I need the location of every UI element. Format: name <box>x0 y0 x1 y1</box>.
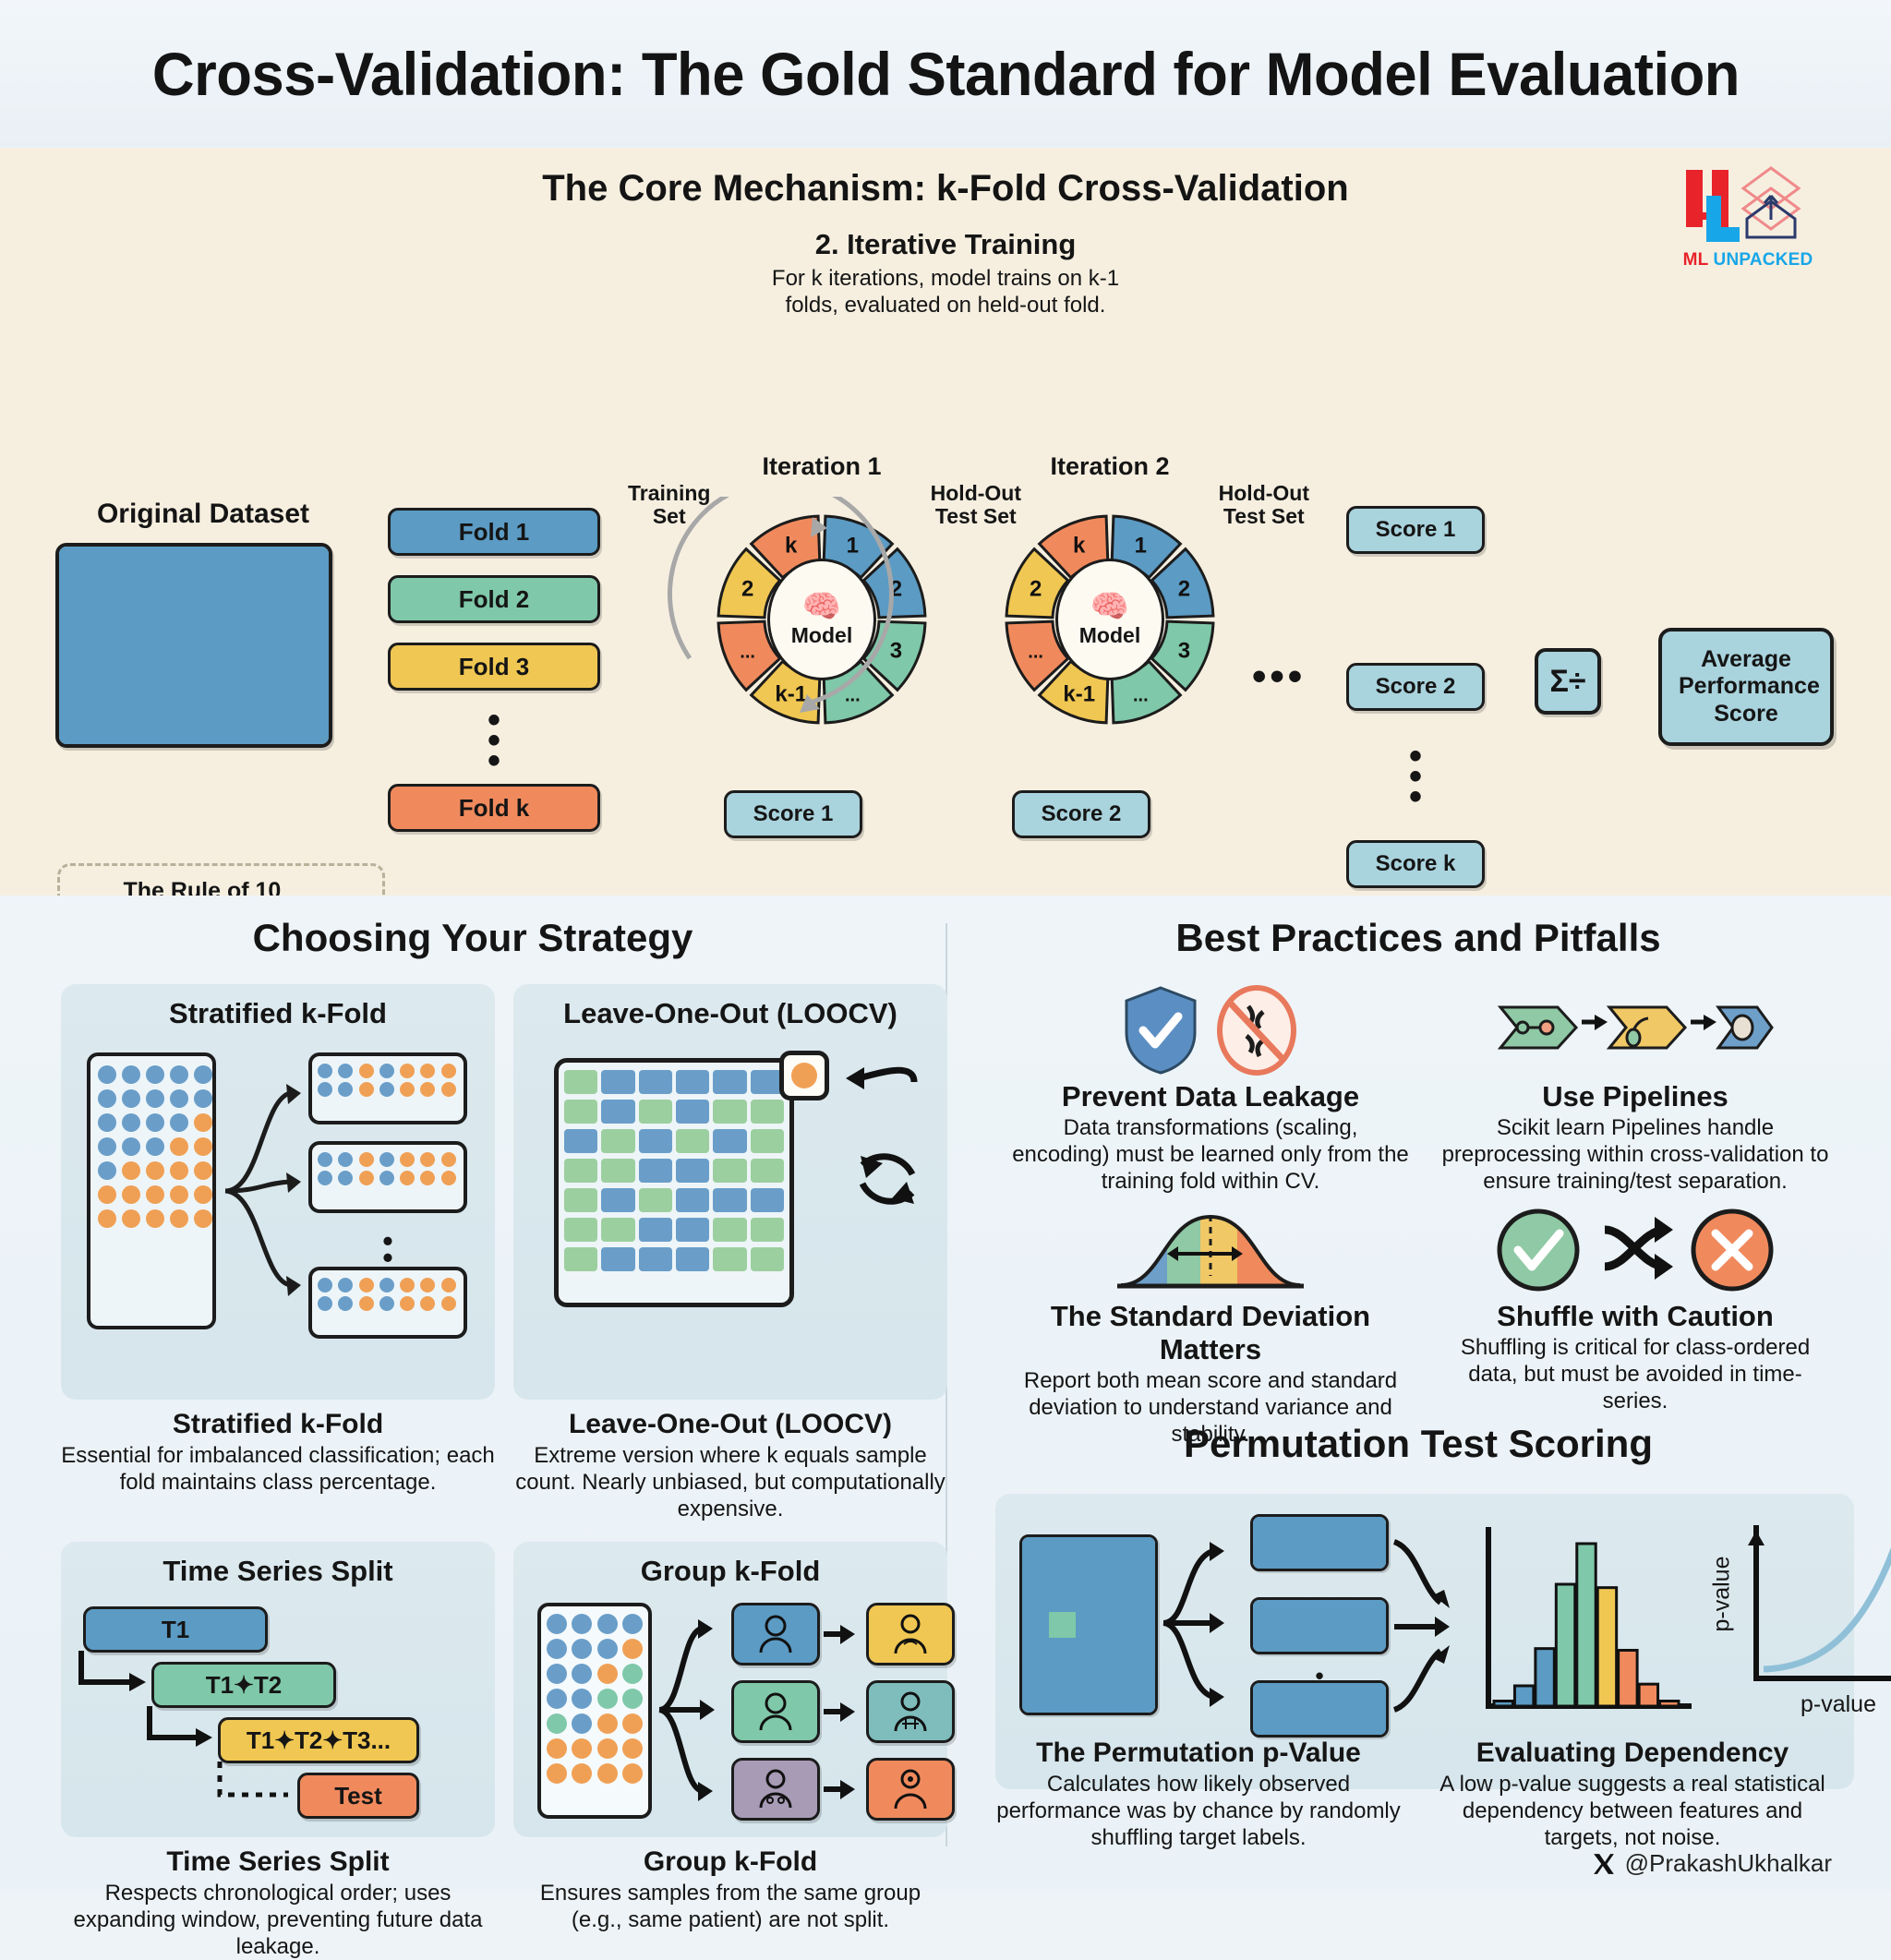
fold-item-3[interactable]: Fold 3 <box>388 643 600 691</box>
caption-time-series: Time Series Split Respects chronological… <box>61 1846 495 1960</box>
sum-divide-icon: Σ÷ <box>1535 648 1601 715</box>
bp-use-pipelines: Use Pipelines Scikit learn Pipelines han… <box>1437 980 1834 1195</box>
group-person-2 <box>731 1680 820 1743</box>
histogram-svg <box>1475 1521 1697 1725</box>
check-circle-icon <box>1494 1206 1583 1294</box>
bp-shuffle-with-caution: Shuffle with Caution Shuffling is critic… <box>1437 1200 1834 1414</box>
caption-body: Calculates how likely observed performan… <box>995 1771 1402 1851</box>
core-mechanism-section: The Core Mechanism: k-Fold Cross-Validat… <box>0 148 1891 896</box>
logo-text: ML UNPACKED <box>1674 250 1822 271</box>
patient-icon <box>891 1690 930 1733</box>
original-dataset-block: Original Dataset <box>55 499 351 748</box>
svg-text:...: ... <box>1028 642 1043 662</box>
fold-label: Fold k <box>459 794 530 823</box>
score-label: Score 1 <box>1376 517 1456 542</box>
fold-item-k[interactable]: Fold k <box>388 784 600 832</box>
card-stratified-k-fold: Stratified k-Fold <box>61 984 495 1400</box>
dependency-xlabel: p-value <box>1801 1691 1876 1718</box>
svg-text:k-1: k-1 <box>1063 681 1095 706</box>
ts-bar-t1[interactable]: T1 <box>83 1606 268 1653</box>
svg-text:...: ... <box>1133 685 1149 705</box>
ts-bar-label: T1✦T2✦T3... <box>247 1726 391 1755</box>
caption-title: Stratified k-Fold <box>61 1409 495 1440</box>
model-hub-1: 🧠 Model <box>767 559 876 680</box>
strategy-heading: Choosing Your Strategy <box>0 916 945 960</box>
group-patient-3 <box>866 1758 955 1821</box>
caption-loocv: Leave-One-Out (LOOCV) Extreme version wh… <box>513 1409 947 1522</box>
caption-body: Ensures samples from the same group (e.g… <box>513 1880 947 1933</box>
card-loocv: Leave-One-Out (LOOCV) <box>513 984 947 1400</box>
caption-body: Extreme version where k equals sample co… <box>513 1442 947 1522</box>
logo-unpacked: UNPACKED <box>1714 250 1813 270</box>
dependency-plot: p-value p-value <box>1716 1518 1891 1730</box>
svg-text:3: 3 <box>1178 638 1190 663</box>
x-logo-icon <box>1592 1852 1616 1876</box>
svg-text:k: k <box>785 534 798 559</box>
brain-icon: 🧠 <box>802 591 841 622</box>
svg-text:3: 3 <box>890 638 902 663</box>
permutation-shuffled-1 <box>1250 1514 1389 1571</box>
ts-bar-t1t2t3[interactable]: T1✦T2✦T3... <box>218 1717 419 1763</box>
dependency-ylabel: p-value <box>1709 1557 1736 1632</box>
iterations-ellipsis-icon: ••• <box>1252 665 1306 689</box>
iterative-training-sub-2: folds, evaluated on held-out fold. <box>0 292 1891 319</box>
ml-unpacked-mark <box>1679 164 1817 247</box>
page-title: Cross-Validation: The Gold Standard for … <box>151 39 1739 109</box>
lower-section: Choosing Your Strategy Stratified k-Fold <box>0 896 1891 1891</box>
fold-item-1[interactable]: Fold 1 <box>388 508 600 556</box>
model-label: Model <box>1079 623 1140 648</box>
model-hub-2: 🧠 Model <box>1055 559 1164 680</box>
model-label: Model <box>791 623 852 648</box>
loocv-held-out-sample <box>779 1051 829 1100</box>
hold-out-test-set-label-2: Hold-OutTest Set <box>1219 482 1309 529</box>
iteration-1-title: Iteration 1 <box>683 452 960 481</box>
card-time-series-split: Time Series Split T1 T1✦T2 T1✦T2✦T3... T… <box>61 1542 495 1837</box>
fold-list: Fold 1 Fold 2 Fold 3 ••• Fold k <box>388 508 600 851</box>
iteration-2-block: Iteration 2 Hold-OutTest Set 123...k-1..… <box>971 513 1248 726</box>
bp-title: Prevent Data Leakage <box>1012 1080 1409 1113</box>
sigma-symbol: Σ÷ <box>1549 664 1585 700</box>
caption-group-k-fold: Group k-Fold Ensures samples from the sa… <box>513 1846 947 1933</box>
stratified-source-grid <box>87 1052 216 1329</box>
shield-check-icon <box>1121 984 1200 1076</box>
aggregate-score-2[interactable]: Score 2 <box>1346 663 1485 711</box>
stratified-arrows-icon <box>218 1052 310 1329</box>
aggregate-score-ellipsis-icon: ••• <box>1346 746 1485 807</box>
no-leak-icon <box>1213 984 1300 1076</box>
score-label: Score 2 <box>1376 674 1456 699</box>
page-header: Cross-Validation: The Gold Standard for … <box>0 0 1891 148</box>
card-group-k-fold: Group k-Fold <box>513 1542 947 1837</box>
iterative-training-title: 2. Iterative Training <box>0 228 1891 261</box>
caption-stratified: Stratified k-Fold Essential for imbalanc… <box>61 1409 495 1496</box>
permutation-source-matrix <box>1019 1534 1158 1715</box>
svg-text:2: 2 <box>890 577 902 602</box>
original-dataset-title: Original Dataset <box>55 499 351 530</box>
group-patient-2 <box>866 1680 955 1743</box>
dataset-matrix <box>55 543 332 748</box>
training-set-label: TrainingSet <box>628 482 710 529</box>
svg-text:k: k <box>1073 534 1086 559</box>
bp-body: Data transformations (scaling, encoding)… <box>1012 1115 1409 1195</box>
dependency-curve-svg <box>1716 1518 1891 1712</box>
iteration-2-title: Iteration 2 <box>971 452 1248 481</box>
caption-title: Evaluating Dependency <box>1429 1738 1836 1769</box>
permutation-shuffled-k <box>1250 1680 1389 1738</box>
svg-text:2: 2 <box>1030 577 1042 602</box>
svg-text:k-1: k-1 <box>775 681 807 706</box>
loocv-sample-grid <box>554 1058 794 1307</box>
caption-title: Group k-Fold <box>513 1846 947 1878</box>
ts-bar-label: T1 <box>162 1616 189 1644</box>
bp-standard-deviation: The Standard Deviation Matters Report bo… <box>1012 1200 1409 1448</box>
group-split-arrows-icon <box>654 1601 726 1822</box>
stratified-fold-2 <box>308 1141 467 1213</box>
permutation-arrows-icon <box>1160 1520 1248 1723</box>
fold-label: Fold 2 <box>459 585 530 614</box>
fold-ellipsis-icon: ••• <box>388 710 600 771</box>
group-person-3 <box>731 1758 820 1821</box>
person-icon <box>757 1769 794 1810</box>
bp-body: Scikit learn Pipelines handle preprocess… <box>1437 1115 1834 1195</box>
svg-text:...: ... <box>845 685 861 705</box>
bp-title: Use Pipelines <box>1437 1080 1834 1113</box>
score-label: Score k <box>1376 851 1456 876</box>
score-box-k[interactable]: Score k <box>1346 840 1485 888</box>
svg-text:2: 2 <box>1178 577 1190 602</box>
card-title-group-k-fold: Group k-Fold <box>513 1542 947 1588</box>
permutation-to-histogram-arrows-icon <box>1392 1514 1468 1726</box>
best-practices-heading: Best Practices and Pitfalls <box>945 916 1891 960</box>
ts-bar-label: T1✦T2 <box>206 1671 282 1700</box>
score-box-iteration-2[interactable]: Score 2 <box>1012 790 1150 838</box>
brain-icon: 🧠 <box>1090 591 1129 622</box>
ts-bar-label: Test <box>334 1782 382 1810</box>
bp-title: Shuffle with Caution <box>1437 1300 1834 1333</box>
handle-text: @PrakashUkhalkar <box>1625 1849 1832 1878</box>
aggregate-score-1[interactable]: Score 1 <box>1346 506 1485 554</box>
core-heading: The Core Mechanism: k-Fold Cross-Validat… <box>0 168 1891 210</box>
bp-title: The Standard Deviation Matters <box>1012 1300 1409 1366</box>
card-title-stratified: Stratified k-Fold <box>61 984 495 1030</box>
svg-text:2: 2 <box>741 577 753 602</box>
score-label: Score 1 <box>753 801 834 826</box>
iteration-1-block: Iteration 1 TrainingSet Hold-OutTest Set… <box>683 513 960 726</box>
stratified-fold-1 <box>308 1052 467 1124</box>
caption-body: Essential for imbalanced classification;… <box>61 1442 495 1496</box>
patient-icon <box>891 1768 930 1810</box>
permutation-histogram <box>1475 1521 1697 1725</box>
logo-ml: ML <box>1683 250 1709 270</box>
fold-label: Fold 3 <box>459 653 530 681</box>
card-title-loocv: Leave-One-Out (LOOCV) <box>513 984 947 1030</box>
brand-logo: ML UNPACKED <box>1674 164 1822 271</box>
caption-body: Respects chronological order; uses expan… <box>61 1880 495 1960</box>
caption-body: A low p-value suggests a real statistica… <box>1429 1771 1836 1851</box>
svg-text:1: 1 <box>1135 534 1147 559</box>
caption-title: Leave-One-Out (LOOCV) <box>513 1409 947 1440</box>
ts-bar-t1t2[interactable]: T1✦T2 <box>151 1662 336 1708</box>
fold-item-2[interactable]: Fold 2 <box>388 575 600 623</box>
average-performance-score-box[interactable]: AveragePerformanceScore <box>1658 628 1834 746</box>
patient-icon <box>891 1613 930 1655</box>
loocv-cycle-arrows-icon <box>825 1054 936 1294</box>
stratified-fold-k <box>308 1267 467 1339</box>
cross-circle-icon <box>1688 1206 1777 1294</box>
average-performance-label: AveragePerformanceScore <box>1679 646 1820 727</box>
fold-label: Fold 1 <box>459 518 530 547</box>
card-title-time-series: Time Series Split <box>61 1542 495 1588</box>
author-handle[interactable]: @PrakashUkhalkar <box>1592 1849 1832 1878</box>
score-label: Score 2 <box>1042 801 1122 826</box>
iterative-training-header: 2. Iterative Training For k iterations, … <box>0 228 1891 319</box>
pipeline-chevrons-icon <box>1497 994 1774 1066</box>
caption-evaluating-dependency: Evaluating Dependency A low p-value sugg… <box>1429 1738 1836 1851</box>
bp-prevent-data-leakage: Prevent Data Leakage Data transformation… <box>1012 980 1409 1195</box>
group-patient-1 <box>866 1603 955 1665</box>
caption-title: Time Series Split <box>61 1846 495 1878</box>
person-icon <box>757 1691 794 1732</box>
group-to-patient-arrows-icon <box>822 1601 862 1822</box>
bp-body: Shuffling is critical for class-ordered … <box>1437 1335 1834 1414</box>
score-box-iteration-1[interactable]: Score 1 <box>724 790 862 838</box>
caption-permutation-p-value: The Permutation p-Value Calculates how l… <box>995 1738 1402 1851</box>
iteration-2-wheel: 123...k-1...2k 🧠 Model <box>1004 513 1216 726</box>
caption-title: The Permutation p-Value <box>995 1738 1402 1769</box>
infographic-page: Cross-Validation: The Gold Standard for … <box>0 0 1891 1891</box>
group-person-1 <box>731 1603 820 1665</box>
permutation-heading: Permutation Test Scoring <box>945 1422 1891 1466</box>
iteration-1-wheel: 123...k-1...2k 🧠 Model <box>716 513 928 726</box>
group-source-grid <box>537 1603 652 1819</box>
shuffle-icon <box>1596 1206 1675 1294</box>
bell-curve-icon <box>1114 1206 1307 1294</box>
ts-bar-test[interactable]: Test <box>297 1773 419 1819</box>
svg-text:...: ... <box>740 642 755 662</box>
person-icon <box>757 1614 794 1654</box>
iterative-training-sub-1: For k iterations, model trains on k-1 <box>0 265 1891 292</box>
permutation-shuffled-2 <box>1250 1597 1389 1654</box>
svg-text:1: 1 <box>847 534 859 559</box>
